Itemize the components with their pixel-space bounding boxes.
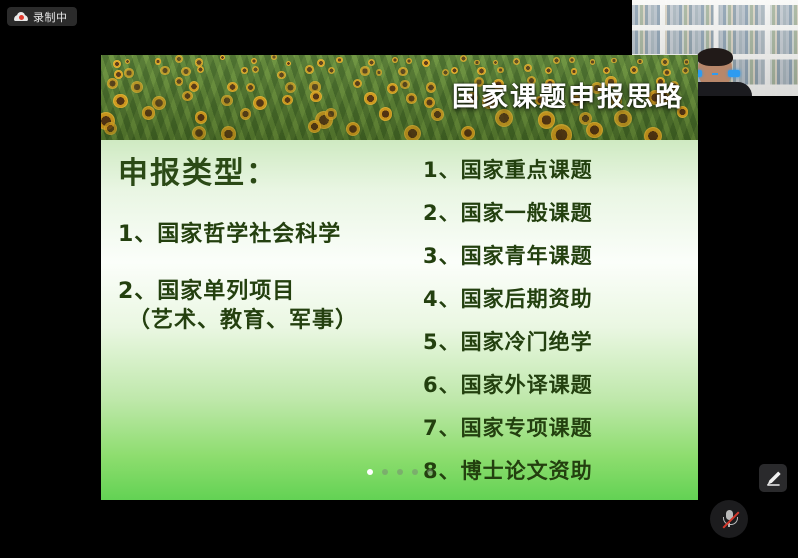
slide-body: 申报类型： 1、国家哲学社会科学 2、国家单列项目 （艺术、教育、军事） 1、国… (101, 140, 698, 500)
slide-left-column: 申报类型： 1、国家哲学社会科学 2、国家单列项目 （艺术、教育、军事） (118, 148, 408, 335)
left-column-item: 2、国家单列项目 （艺术、教育、军事） (118, 277, 408, 335)
right-column-item: 7、国家专项课题 (423, 412, 683, 442)
slide-title: 国家课题申报思路 (452, 75, 684, 114)
slide-pagination-dots[interactable] (101, 469, 698, 475)
pagination-dot[interactable] (427, 469, 433, 475)
shared-slide[interactable]: 国家课题申报思路 申报类型： 1、国家哲学社会科学 2、国家单列项目 （艺术、教… (101, 55, 698, 500)
pagination-dot[interactable] (412, 469, 418, 475)
cloud-record-icon (14, 12, 28, 21)
microphone-muted-icon (722, 510, 736, 529)
slide-right-column: 1、国家重点课题 2、国家一般课题 3、国家青年课题 4、国家后期资助 5、国家… (423, 154, 683, 498)
pagination-dot[interactable] (397, 469, 403, 475)
left-column-heading: 申报类型： (118, 148, 408, 192)
right-column-item: 3、国家青年课题 (423, 240, 683, 270)
left-item-main: 2、国家单列项目 (118, 279, 295, 304)
left-column-item: 1、国家哲学社会科学 (118, 220, 408, 249)
right-column-item: 6、国家外译课题 (423, 369, 683, 399)
right-column-item: 5、国家冷门绝学 (423, 326, 683, 356)
pagination-dot[interactable] (382, 469, 388, 475)
right-column-item: 2、国家一般课题 (423, 197, 683, 227)
microphone-mute-button[interactable] (710, 500, 748, 538)
recording-badge: 录制中 (7, 7, 77, 26)
recording-label: 录制中 (33, 9, 68, 25)
right-column-item: 1、国家重点课题 (423, 154, 683, 184)
left-item-main: 1、国家哲学社会科学 (118, 222, 341, 247)
left-item-sub: （艺术、教育、军事） (128, 306, 408, 335)
pagination-dot[interactable] (367, 469, 373, 475)
pen-icon (765, 470, 782, 487)
annotation-pen-button[interactable] (759, 464, 787, 492)
right-column-item: 4、国家后期资助 (423, 283, 683, 313)
meeting-screen-share-window: 录制中 李倍雷 国家课题申报思路 申报类型 (0, 0, 798, 558)
